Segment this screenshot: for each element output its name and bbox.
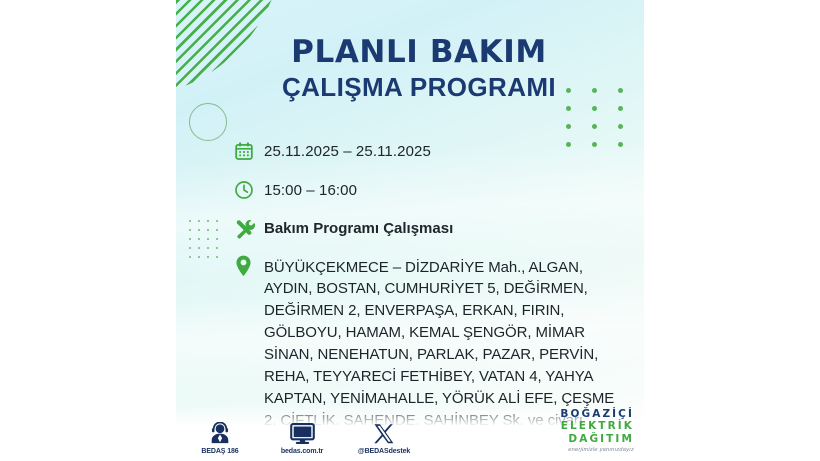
clock-icon [234, 179, 264, 201]
poster-footer: BEDAŞ 186 bedas.com.tr [176, 405, 644, 461]
detail-row-time: 15:00 – 16:00 [234, 179, 626, 203]
brand-line-bogazici: BOĞAZİÇİ [560, 408, 634, 420]
brand-line-elektrik: ELEKTRİK [560, 420, 634, 432]
tools-icon [234, 217, 264, 239]
date-range-text: 25.11.2025 – 25.11.2025 [264, 140, 431, 164]
screenshot-root: PLANLI BAKIM ÇALIŞMA PROGRAMI [0, 0, 820, 461]
contact-website[interactable]: bedas.com.tr [270, 421, 334, 455]
maintenance-notice-card: PLANLI BAKIM ÇALIŞMA PROGRAMI [176, 0, 644, 461]
x-twitter-icon [352, 421, 416, 445]
monitor-icon [270, 421, 334, 445]
page-title: PLANLI BAKIM [194, 36, 644, 69]
contact-phone[interactable]: BEDAŞ 186 [188, 421, 252, 455]
page-subtitle: ÇALIŞMA PROGRAMI [194, 73, 644, 101]
contact-phone-label: BEDAŞ 186 [188, 448, 252, 455]
circle-outline-decoration [189, 103, 227, 141]
bedas-logo: BOĞAZİÇİ ELEKTRİK DAĞITIM enerjimizle ya… [560, 408, 634, 453]
contact-website-label: bedas.com.tr [270, 448, 334, 455]
brand-tagline: enerjimizle yanınızdayız [560, 447, 634, 453]
details-list: 25.11.2025 – 25.11.2025 15:00 – 16:00 [234, 140, 626, 432]
detail-row-work-type: Bakım Programı Çalışması [234, 217, 626, 241]
detail-row-date: 25.11.2025 – 25.11.2025 [234, 140, 626, 164]
calendar-icon [234, 140, 264, 162]
support-agent-icon [188, 421, 252, 445]
contact-channels: BEDAŞ 186 bedas.com.tr [188, 421, 416, 455]
location-pin-icon [234, 256, 264, 276]
contact-x-account[interactable]: @BEDASdestek [352, 421, 416, 455]
contact-x-label: @BEDASdestek [352, 448, 416, 455]
dot-grid-decoration-left [189, 220, 225, 265]
brand-line-dagitim: DAĞITIM [560, 433, 634, 445]
work-type-text: Bakım Programı Çalışması [264, 217, 453, 241]
poster-heading: PLANLI BAKIM ÇALIŞMA PROGRAMI [176, 36, 644, 101]
time-range-text: 15:00 – 16:00 [264, 179, 357, 203]
